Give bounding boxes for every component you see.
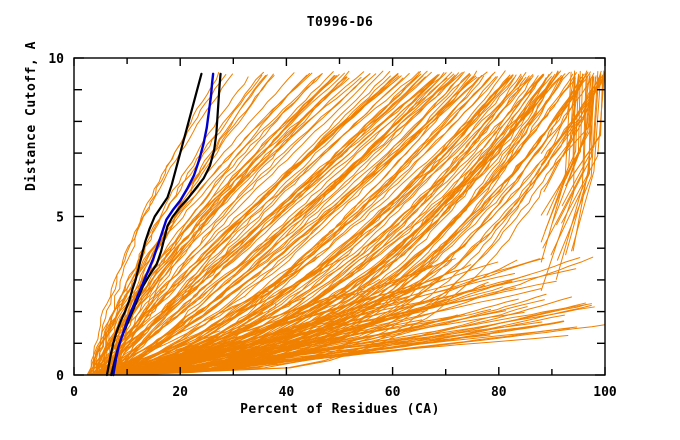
x-tick-label: 80 xyxy=(491,385,507,400)
x-tick-label: 100 xyxy=(593,385,617,400)
y-tick-label: 0 xyxy=(56,369,64,384)
plot-canvas: 0204060801000510 xyxy=(0,0,680,440)
chart-screenshot: T0996-D6 0204060801000510 Percent of Res… xyxy=(0,0,680,440)
x-tick-label: 60 xyxy=(385,385,401,400)
x-tick-label: 20 xyxy=(172,385,188,400)
y-tick-label: 5 xyxy=(56,211,64,226)
y-tick-label: 10 xyxy=(48,52,64,67)
x-tick-label: 40 xyxy=(279,385,295,400)
x-tick-label: 0 xyxy=(70,385,78,400)
y-axis-label-wrapper: Distance Cutoff, A xyxy=(20,6,40,226)
x-axis-label: Percent of Residues (CA) xyxy=(0,402,680,417)
y-axis-label: Distance Cutoff, A xyxy=(24,41,39,191)
